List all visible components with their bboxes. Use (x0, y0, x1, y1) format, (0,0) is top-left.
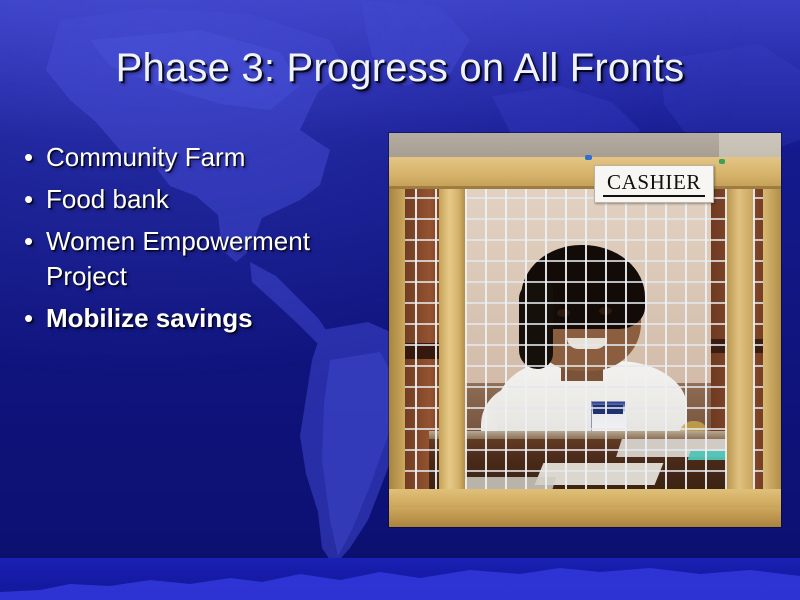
sign-tack-blue-icon (585, 155, 592, 160)
list-item: • Community Farm (24, 140, 396, 175)
photo-person-badge-header (593, 405, 623, 414)
cashier-window-photo: CASHIER (389, 133, 781, 527)
page-title: Phase 3: Progress on All Fronts (0, 46, 800, 91)
cashier-sign-underline (603, 195, 705, 197)
slide: Phase 3: Progress on All Fronts • Commun… (0, 0, 800, 600)
photo-frame-edge-left (389, 181, 405, 507)
list-item-label: Mobilize savings (46, 301, 396, 336)
photo-person-hair-side (519, 283, 553, 369)
cashier-sign-label: CASHIER (607, 171, 701, 193)
bullet-icon: • (24, 140, 46, 175)
cashier-sign: CASHIER (594, 165, 714, 203)
photo-frame-post-right (727, 157, 753, 507)
photo-person-eye-right (599, 307, 612, 315)
list-item: • Mobilize savings (24, 301, 396, 336)
photo-frame-post-left (439, 157, 465, 507)
bullet-icon: • (24, 224, 46, 259)
photo-person-smile (567, 338, 607, 349)
sign-tack-green-icon (719, 159, 725, 164)
list-item-label: Community Farm (46, 140, 396, 175)
list-item: • Women Empowerment Project (24, 224, 396, 294)
photo-frame-edge-right (763, 157, 781, 507)
photo-frame-bottom-beam-2 (389, 507, 781, 527)
bullet-icon: • (24, 301, 46, 336)
photo-counter-surface (429, 431, 749, 439)
list-item: • Food bank (24, 182, 396, 217)
list-item-label: Food bank (46, 182, 396, 217)
bullet-icon: • (24, 182, 46, 217)
antarctica-shape-icon (0, 566, 800, 600)
list-item-label: Women Empowerment Project (46, 224, 396, 294)
bullet-list: • Community Farm • Food bank • Women Emp… (24, 140, 396, 343)
photo-person-eye-left (557, 309, 570, 317)
